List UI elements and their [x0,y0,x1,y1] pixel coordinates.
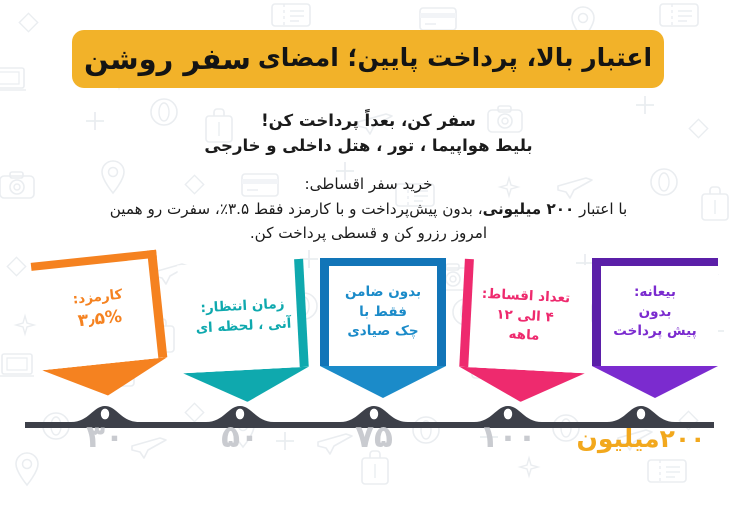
card-line-3: پیش پرداخت [613,322,696,341]
card-edge-right [437,258,446,366]
credit-amount-emphasis: ۲۰۰ میلیونی [483,200,575,218]
card-body: زمان انتظار:آنی ، لحظه ای [177,259,308,373]
credit-timeline: ۳۰۵۰۷۵۱۰۰۲۰۰میلیون [0,396,737,509]
timeline-marker-3[interactable] [370,409,378,420]
commission-card[interactable]: کارمزد:۳٫۵% [31,250,168,371]
card-line-3: ماهه [508,325,540,345]
timeline-tick-4: ۱۰۰ [448,422,568,453]
card-line-3: چک صیادی [347,322,418,341]
card-body: تعداد اقساط:۴ الی ۱۲ماهه [459,259,590,373]
card-arrow-tail [320,366,446,398]
timeline-marker-1[interactable] [101,409,109,420]
card-line-2: ۳٫۵% [77,306,123,334]
card-line-2: آنی ، لحظه ای [195,314,292,338]
timeline-marker-4[interactable] [504,409,512,420]
installments-card[interactable]: تعداد اقساط:۴ الی ۱۲ماهه [459,259,590,373]
card-body: بدون ضامنفقط باچک صیادی [320,258,446,366]
card-line-2: بدون [639,303,672,322]
timeline-tick-2: ۵۰ [180,422,300,453]
body-paragraph: خرید سفر اقساطی:با اعتبار ۲۰۰ میلیونی، ب… [30,172,707,246]
card-edge-left [320,258,329,366]
subtitle-line-2: بلیط هواپیما ، تور ، هتل داخلی و خارجی [0,133,737,158]
body-line-2: با اعتبار ۲۰۰ میلیونی، بدون پیش‌پرداخت و… [30,197,707,222]
body-text-run: امروز رزرو کن و قسطی پرداخت کن. [250,224,487,242]
body-line-1: خرید سفر اقساطی: [30,172,707,197]
timeline-marker-2[interactable] [236,409,244,420]
card-line-2: ۴ الی ۱۲ [496,305,554,327]
wait-time-card[interactable]: زمان انتظار:آنی ، لحظه ای [177,259,308,373]
subtitle-line-1: سفر کن، بعداً پرداخت کن! [0,108,737,133]
subtitle-block: سفر کن، بعداً پرداخت کن! بلیط هواپیما ، … [0,108,737,158]
timeline-tick-1: ۳۰ [45,422,165,453]
guarantor-card[interactable]: بدون ضامنفقط باچک صیادی [320,258,446,366]
card-line-1: بیعانه: [634,283,676,302]
deposit-card[interactable]: بیعانه:بدونپیش پرداخت [592,258,718,366]
brand-name: سفر روشن [84,45,251,74]
feature-cards-row: کارمزد:۳٫۵%زمان انتظار:آنی ، لحظه ایبدون… [0,248,737,398]
body-text-run: خرید سفر اقساطی: [305,175,433,193]
body-text-run: با اعتبار [574,200,627,218]
headline-text: اعتبار بالا، پرداخت پایین؛ امضای [258,45,652,73]
card-line-1: بدون ضامن [345,283,421,302]
headline-banner: اعتبار بالا، پرداخت پایین؛ امضای سفر روش… [72,30,664,88]
card-body: بیعانه:بدونپیش پرداخت [592,258,718,366]
card-edge-top [592,258,718,266]
infographic-stage: اعتبار بالا، پرداخت پایین؛ امضای سفر روش… [0,0,737,509]
card-edge-left [592,258,601,366]
timeline-tick-5: ۲۰۰میلیون [556,426,726,451]
timeline-tick-3: ۷۵ [314,422,434,453]
body-line-3: امروز رزرو کن و قسطی پرداخت کن. [30,221,707,246]
card-edge-top [320,258,446,266]
card-line-1: تعداد اقساط: [481,285,570,308]
timeline-marker-5[interactable] [637,409,645,420]
card-line-2: فقط با [359,303,407,322]
card-arrow-tail [592,366,718,398]
body-text-run: ، بدون پیش‌پرداخت و با کارمزد فقط ۳.۵٪، … [110,200,483,218]
